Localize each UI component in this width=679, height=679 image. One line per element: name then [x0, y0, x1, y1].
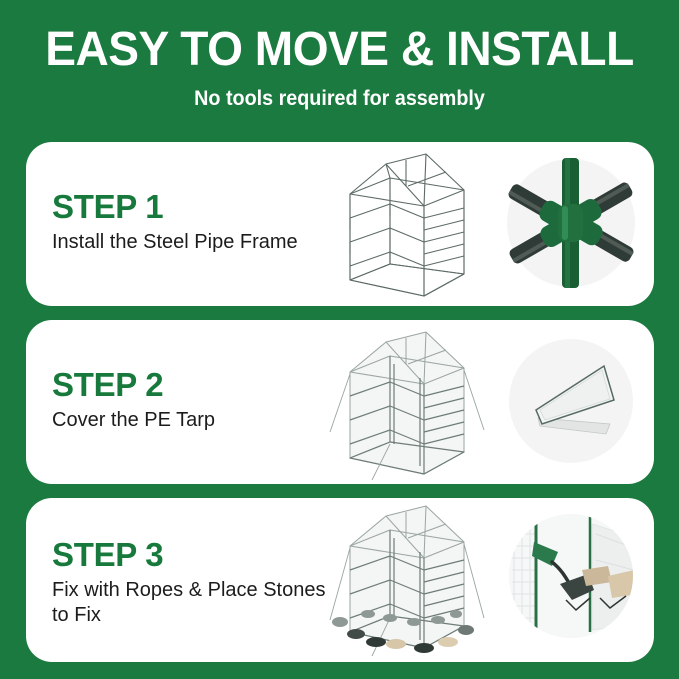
pipe-cross-connector-closeup — [496, 148, 646, 298]
step-3-description: Fix with Ropes & Place Stones to Fix — [52, 578, 327, 628]
step-2-artwork — [324, 320, 654, 484]
step-1-artwork — [324, 142, 654, 306]
step-card-3: STEP 3 Fix with Ropes & Place Stones to … — [26, 498, 654, 662]
step-2-text: STEP 2 Cover the PE Tarp — [52, 320, 332, 484]
rope-and-stone-anchor-closeup — [496, 504, 646, 654]
folded-pe-tarp-closeup — [496, 326, 646, 476]
step-1-text: STEP 1 Install the Steel Pipe Frame — [52, 142, 332, 306]
step-1-title: STEP 1 — [52, 188, 163, 226]
page-title: EASY TO MOVE & INSTALL — [14, 22, 666, 78]
step-2-title: STEP 2 — [52, 366, 163, 404]
header-banner: EASY TO MOVE & INSTALL No tools required… — [0, 0, 679, 122]
step-card-2: STEP 2 Cover the PE Tarp — [26, 320, 654, 484]
greenhouse-with-tarp-illustration — [328, 324, 488, 482]
step-3-artwork — [324, 498, 654, 662]
step-3-text: STEP 3 Fix with Ropes & Place Stones to … — [52, 498, 332, 662]
step-card-1: STEP 1 Install the Steel Pipe Frame — [26, 142, 654, 306]
greenhouse-with-ropes-and-stones-illustration — [328, 502, 488, 660]
steel-pipe-frame-illustration — [328, 146, 488, 304]
step-2-description: Cover the PE Tarp — [52, 408, 327, 433]
step-3-title: STEP 3 — [52, 536, 163, 574]
promo-page: EASY TO MOVE & INSTALL No tools required… — [0, 0, 679, 679]
step-1-description: Install the Steel Pipe Frame — [52, 230, 327, 255]
page-subtitle: No tools required for assembly — [20, 85, 658, 112]
